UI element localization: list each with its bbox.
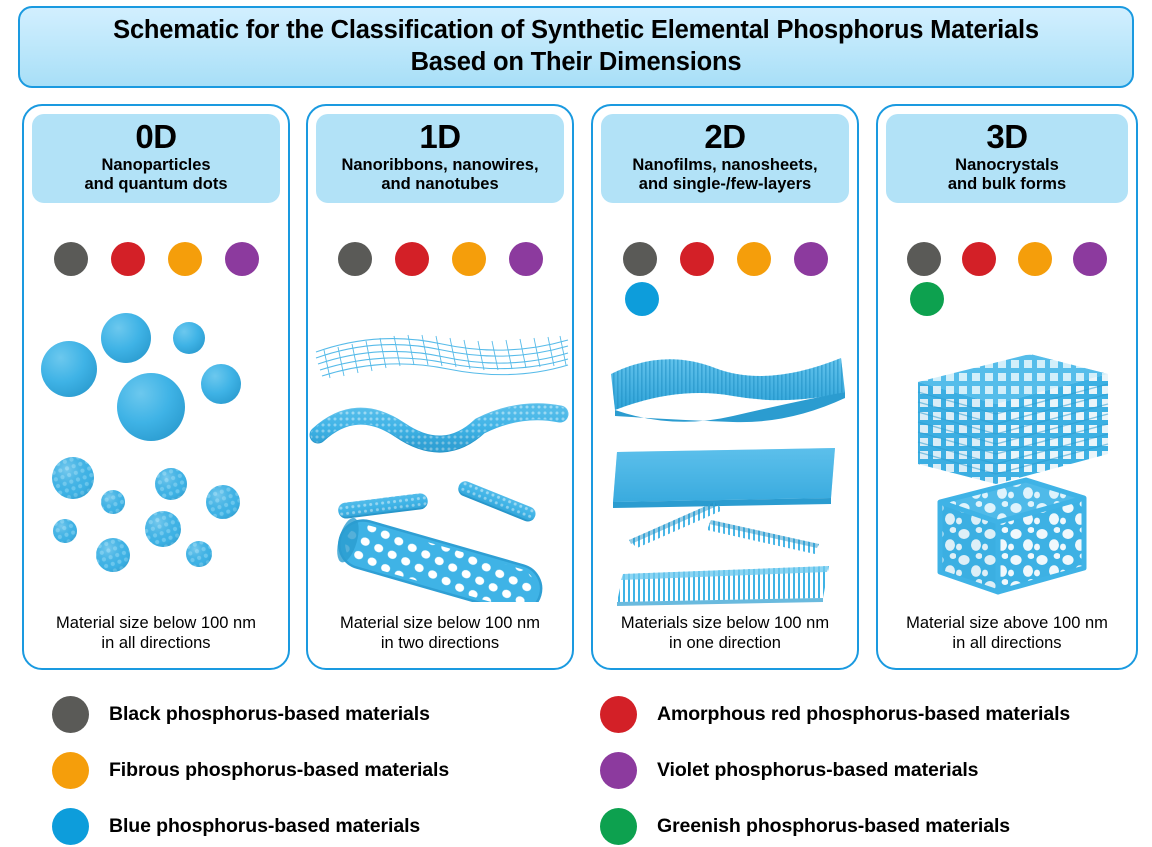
dot-slot <box>896 282 958 316</box>
dot-slot <box>42 242 99 276</box>
amorphous-red-phosphorus-dot <box>395 242 429 276</box>
legend-item-black-phosphorus: Black phosphorus-based materials <box>52 696 430 733</box>
page-title-line1: Schematic for the Classification of Synt… <box>113 16 1039 44</box>
fibrous-phosphorus-legend-dot <box>52 752 89 789</box>
nanotube-small <box>337 493 428 520</box>
material-dots-3d <box>878 242 1136 322</box>
dot-slot <box>1007 242 1063 276</box>
page-title-line2: Based on Their Dimensions <box>411 48 742 76</box>
material-dot-row <box>896 282 1118 316</box>
fibrous-phosphorus-dot <box>737 242 771 276</box>
fibrous-phosphorus-dot <box>1018 242 1052 276</box>
schematic-title-banner: Schematic for the Classification of Synt… <box>18 6 1134 88</box>
illustration-nanofilms-nanosheets-layers <box>593 344 857 606</box>
black-phosphorus-dot <box>338 242 372 276</box>
material-dots-1d <box>308 242 572 282</box>
dot-slot <box>383 242 440 276</box>
legend-label: Black phosphorus-based materials <box>109 703 430 726</box>
smooth-sphere <box>101 313 151 363</box>
fibrous-phosphorus-dot <box>452 242 486 276</box>
textured-sphere <box>186 541 212 567</box>
textured-sphere <box>145 511 181 547</box>
dot-slot <box>497 242 554 276</box>
dimension-card-0d: 0D Nanoparticles and quantum dots <box>22 104 290 670</box>
nanowire-texture <box>318 412 560 444</box>
legend: Black phosphorus-based materials Fibrous… <box>0 690 1152 845</box>
greenish-phosphorus-legend-dot <box>600 808 637 845</box>
dimension-label-2d: 2D <box>605 119 845 155</box>
single-layer-lattice <box>617 566 829 606</box>
legend-item-blue-phosphorus: Blue phosphorus-based materials <box>52 808 420 845</box>
fibrous-phosphorus-dot <box>168 242 202 276</box>
material-dots-0d <box>24 242 288 282</box>
dimension-subtitle-3d: Nanocrystals and bulk forms <box>890 156 1124 194</box>
dot-slot <box>99 242 156 276</box>
dimension-label-1d: 1D <box>320 119 560 155</box>
material-dot-row <box>42 242 270 276</box>
dot-slot <box>952 242 1008 276</box>
dimension-subtitle-2d: Nanofilms, nanosheets, and single-/few-l… <box>605 156 845 194</box>
legend-item-fibrous-phosphorus: Fibrous phosphorus-based materials <box>52 752 449 789</box>
textured-sphere <box>53 519 77 543</box>
dot-slot <box>213 242 270 276</box>
dot-slot <box>668 242 725 276</box>
dimension-card-3d: 3D Nanocrystals and bulk forms <box>876 104 1138 670</box>
dot-slot <box>611 282 673 316</box>
smooth-sphere <box>173 322 205 354</box>
dimension-subtitle-1d: Nanoribbons, nanowires, and nanotubes <box>320 156 560 194</box>
textured-sphere <box>155 468 187 500</box>
card-header-3d: 3D Nanocrystals and bulk forms <box>886 114 1128 203</box>
dot-slot <box>1063 242 1119 276</box>
dimension-label-3d: 3D <box>890 119 1124 155</box>
textured-sphere <box>206 485 240 519</box>
illustration-nanoribbons-nanowires-nanotubes <box>308 302 572 602</box>
material-dots-2d <box>593 242 857 322</box>
smooth-sphere <box>201 364 241 404</box>
violet-phosphorus-dot <box>794 242 828 276</box>
material-dot-row <box>611 242 839 276</box>
legend-label: Fibrous phosphorus-based materials <box>109 759 449 782</box>
legend-label: Blue phosphorus-based materials <box>109 815 420 838</box>
nanotube-small <box>456 479 538 524</box>
dot-slot <box>440 242 497 276</box>
card-footer-2d: Materials size below 100 nm in one direc… <box>599 614 851 654</box>
nanotube-large <box>333 515 547 602</box>
amorphous-red-phosphorus-dot <box>111 242 145 276</box>
material-dot-row <box>896 242 1118 276</box>
dimension-card-2d: 2D Nanofilms, nanosheets, and single-/fe… <box>591 104 859 670</box>
dot-slot <box>896 242 952 276</box>
blue-phosphorus-dot <box>625 282 659 316</box>
material-dot-row <box>326 242 554 276</box>
textured-sphere <box>52 457 94 499</box>
dimension-subtitle-0d: Nanoparticles and quantum dots <box>36 156 276 194</box>
violet-phosphorus-dot <box>509 242 543 276</box>
layered-nanocrystal-cube <box>918 354 1108 484</box>
legend-item-greenish-phosphorus: Greenish phosphorus-based materials <box>600 808 1010 845</box>
wavy-nanosheet <box>611 358 845 422</box>
black-phosphorus-dot <box>623 242 657 276</box>
smooth-sphere <box>41 341 97 397</box>
card-footer-3d: Material size above 100 nm in all direct… <box>884 614 1130 654</box>
nanoribbon-lattice <box>316 335 568 378</box>
card-footer-1d: Material size below 100 nm in two direct… <box>314 614 566 654</box>
legend-label: Violet phosphorus-based materials <box>657 759 978 782</box>
black-phosphorus-dot <box>54 242 88 276</box>
dot-slot <box>326 242 383 276</box>
porous-foam-cube <box>940 480 1084 592</box>
dot-slot <box>782 242 839 276</box>
tilted-layer-sheet <box>629 502 723 548</box>
dot-slot <box>725 242 782 276</box>
card-footer-0d: Material size below 100 nm in all direct… <box>30 614 282 654</box>
legend-item-amorphous-red-phosphorus: Amorphous red phosphorus-based materials <box>600 696 1070 733</box>
illustration-nanoparticles-and-quantum-dots <box>24 302 288 602</box>
legend-item-violet-phosphorus: Violet phosphorus-based materials <box>600 752 978 789</box>
dimension-label-0d: 0D <box>36 119 276 155</box>
legend-label: Amorphous red phosphorus-based materials <box>657 703 1070 726</box>
dot-slot <box>156 242 213 276</box>
amorphous-red-phosphorus-dot <box>680 242 714 276</box>
illustration-nanocrystals-and-bulk-forms <box>878 344 1136 606</box>
legend-label: Greenish phosphorus-based materials <box>657 815 1010 838</box>
black-phosphorus-dot <box>907 242 941 276</box>
violet-phosphorus-dot <box>225 242 259 276</box>
textured-sphere <box>96 538 130 572</box>
card-header-1d: 1D Nanoribbons, nanowires, and nanotubes <box>316 114 564 203</box>
amorphous-red-phosphorus-legend-dot <box>600 696 637 733</box>
tilted-layer-sheet <box>707 520 819 554</box>
textured-sphere <box>101 490 125 514</box>
flat-nanofilm <box>613 448 835 508</box>
page-title: Schematic for the Classification of Synt… <box>113 15 1039 79</box>
smooth-sphere <box>117 373 185 441</box>
dimension-card-1d: 1D Nanoribbons, nanowires, and nanotubes <box>306 104 574 670</box>
amorphous-red-phosphorus-dot <box>962 242 996 276</box>
violet-phosphorus-legend-dot <box>600 752 637 789</box>
card-header-0d: 0D Nanoparticles and quantum dots <box>32 114 280 203</box>
greenish-phosphorus-dot <box>910 282 944 316</box>
blue-phosphorus-legend-dot <box>52 808 89 845</box>
violet-phosphorus-dot <box>1073 242 1107 276</box>
card-header-2d: 2D Nanofilms, nanosheets, and single-/fe… <box>601 114 849 203</box>
dot-slot <box>611 242 668 276</box>
material-dot-row <box>611 282 839 316</box>
black-phosphorus-legend-dot <box>52 696 89 733</box>
